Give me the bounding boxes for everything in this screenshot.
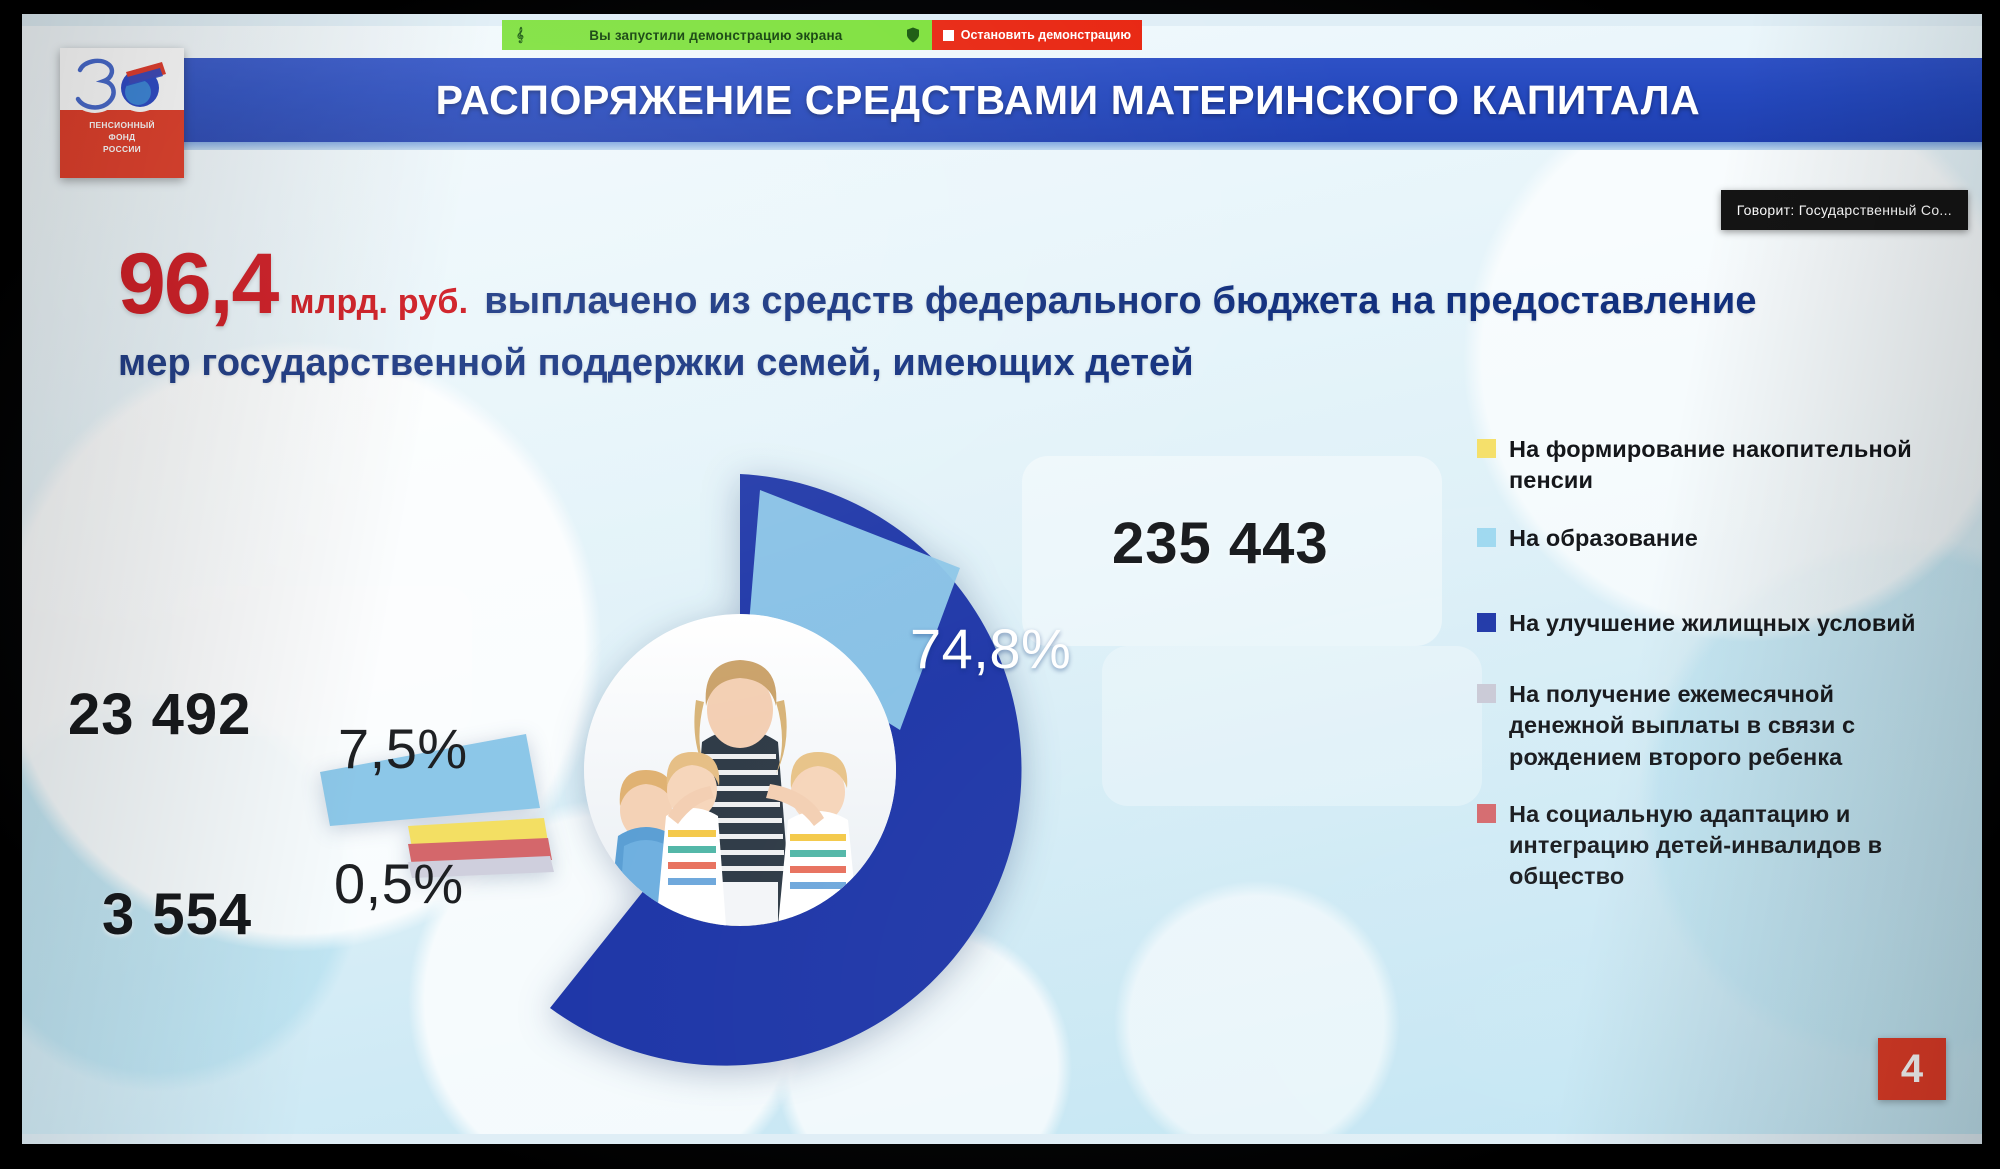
title-band-underline [154, 142, 1982, 150]
legend-item-pension: На формирование накопительной пенсии [1477, 434, 1947, 497]
slide-title-band: РАСПОРЯЖЕНИЕ СРЕДСТВАМИ МАТЕРИНСКОГО КАП… [154, 58, 1982, 142]
headline-amount: 96,4 [118, 244, 277, 326]
legend-swatch-social-adaptation [1477, 804, 1496, 823]
family-photo-art [584, 614, 896, 926]
legend-label-monthly-payment: На получение ежемесячной денежной выплат… [1509, 679, 1947, 773]
monitor-frame: ПЕНСИОННЫЙ ФОНД РОССИИ РАСПОРЯЖЕНИЕ СРЕД… [0, 0, 2000, 1169]
legend-swatch-pension [1477, 439, 1496, 458]
headline-line2: мер государственной поддержки семей, име… [118, 342, 1194, 384]
presentation-slide: ПЕНСИОННЫЙ ФОНД РОССИИ РАСПОРЯЖЕНИЕ СРЕД… [22, 26, 1982, 1134]
logo-caption-line1: ПЕНСИОННЫЙ [60, 120, 184, 132]
family-photo [584, 614, 896, 926]
logo-caption: ПЕНСИОННЫЙ ФОНД РОССИИ [60, 120, 184, 156]
screen-share-status: 𝄞 Вы запустили демонстрацию экрана [502, 20, 932, 50]
shield-icon [904, 26, 922, 44]
legend-swatch-housing [1477, 613, 1496, 632]
label-count-monthly: 3 554 [102, 881, 252, 948]
logo-caption-line3: РОССИИ [60, 144, 184, 156]
slide-number-badge: 4 [1878, 1038, 1946, 1100]
legend-item-housing: На улучшение жилищных условий [1477, 608, 1947, 639]
pfr-logo: ПЕНСИОННЫЙ ФОНД РОССИИ [60, 48, 184, 178]
decor-panel-2 [1102, 646, 1482, 806]
headline-block: 96,4 млрд. руб. выплачено из средств фед… [118, 244, 1888, 385]
screen-share-message: Вы запустили демонстрацию экрана [528, 28, 904, 43]
stop-square-icon [943, 30, 954, 41]
stop-sharing-button[interactable]: Остановить демонстрацию [932, 20, 1142, 50]
headline-unit: млрд. руб. [289, 283, 468, 322]
chart-legend: На формирование накопительной пенсии На … [1477, 434, 1947, 919]
legend-item-education: На образование [1477, 523, 1947, 554]
legend-label-housing: На улучшение жилищных условий [1509, 608, 1916, 639]
legend-swatch-monthly-payment [1477, 684, 1496, 703]
legend-item-monthly-payment: На получение ежемесячной денежной выплат… [1477, 679, 1947, 773]
logo-caption-line2: ФОНД [60, 132, 184, 144]
logo-30-mark [74, 56, 170, 122]
screen-surface: ПЕНСИОННЫЙ ФОНД РОССИИ РАСПОРЯЖЕНИЕ СРЕД… [22, 14, 1982, 1144]
label-count-housing: 235 443 [1112, 510, 1329, 577]
legend-item-social-adaptation: На социальную адаптацию и интеграцию дет… [1477, 799, 1947, 893]
page-title: РАСПОРЯЖЕНИЕ СРЕДСТВАМИ МАТЕРИНСКОГО КАП… [436, 77, 1701, 124]
microphone-icon: 𝄞 [512, 27, 528, 43]
active-speaker-chip: Говорит: Государственный Со... [1721, 190, 1968, 230]
active-speaker-label: Говорит: Государственный Со... [1737, 202, 1952, 218]
legend-swatch-education [1477, 528, 1496, 547]
legend-label-social-adaptation: На социальную адаптацию и интеграцию дет… [1509, 799, 1947, 893]
legend-label-pension: На формирование накопительной пенсии [1509, 434, 1947, 497]
legend-label-education: На образование [1509, 523, 1698, 554]
slide-number: 4 [1901, 1047, 1923, 1092]
stop-sharing-label: Остановить демонстрацию [961, 28, 1131, 42]
label-percent-education: 7,5% [338, 716, 468, 781]
label-percent-housing: 74,8% [910, 616, 1071, 681]
screen-share-banner: 𝄞 Вы запустили демонстрацию экрана Остан… [502, 20, 1142, 50]
label-count-education: 23 492 [68, 681, 251, 748]
label-percent-monthly: 0,5% [334, 851, 464, 916]
headline-line1-rest: выплачено из средств федерального бюджет… [484, 280, 1756, 323]
